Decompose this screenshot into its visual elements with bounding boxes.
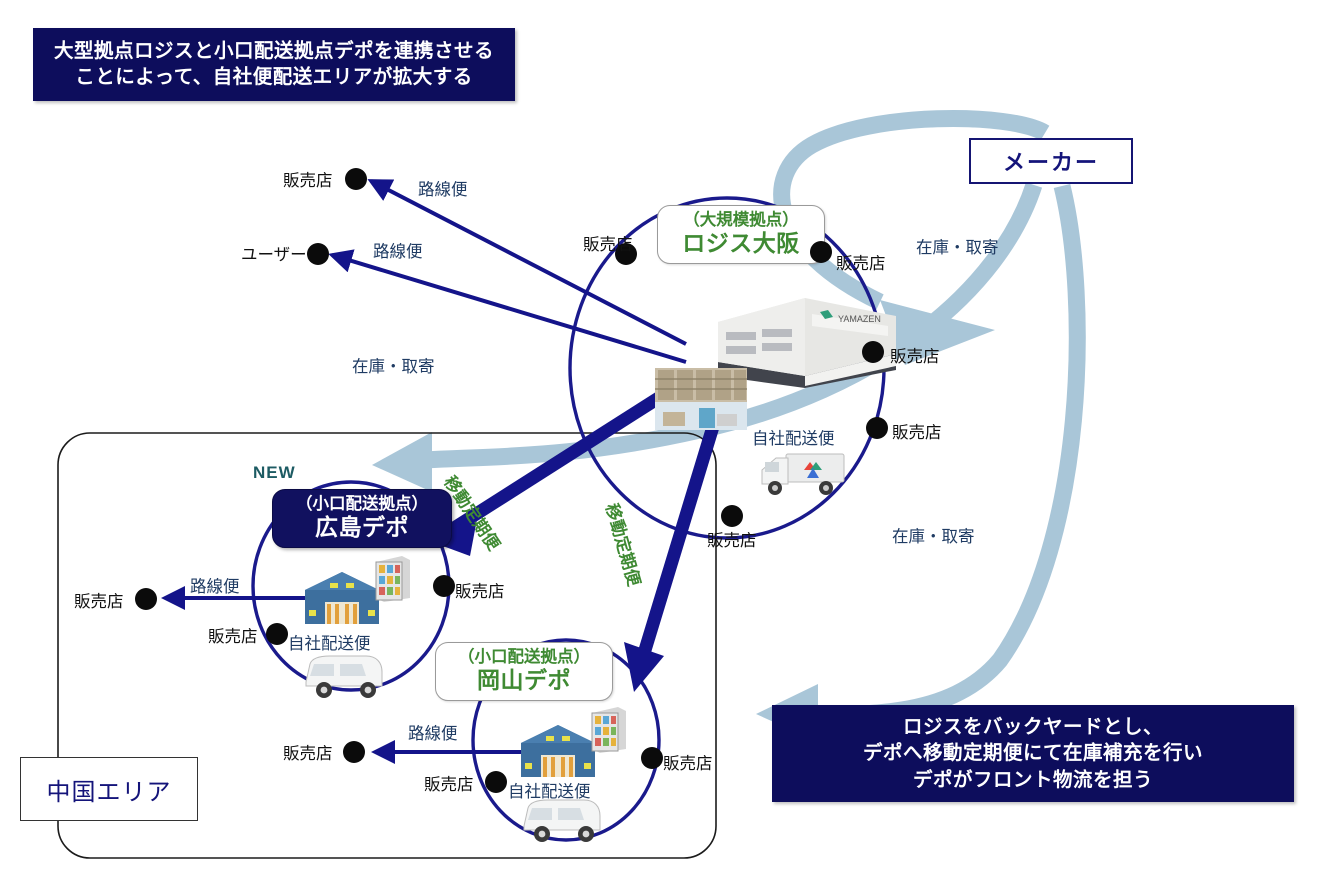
new-tag-label: NEW — [253, 463, 296, 483]
logis-osaka-subtitle: （大規模拠点） — [670, 211, 812, 230]
store-dot — [135, 588, 157, 610]
small-delivery-van-icon — [300, 652, 388, 700]
summary-line-2: デポへ移動定期便にて在庫補充を行い — [778, 740, 1288, 766]
title-line-1: 大型拠点ロジスと小口配送拠点デポを連携させる — [39, 38, 509, 64]
store-dot — [641, 747, 663, 769]
summary-line-3: デポがフロント物流を担う — [778, 767, 1288, 793]
node-hiroshima-depo: （小口配送拠点） 広島デポ — [272, 489, 452, 548]
store-label: 販売店 — [208, 623, 258, 647]
own-delivery-label: 自社配送便 — [508, 778, 591, 802]
own-delivery-label: 自社配送便 — [752, 425, 835, 449]
summary-banner: ロジスをバックヤードとし、 デポへ移動定期便にて在庫補充を行い デポがフロント物… — [772, 705, 1294, 802]
user-dot — [307, 243, 329, 265]
store-dot — [343, 741, 365, 763]
store-dot — [862, 341, 884, 363]
diagram-canvas: YAMAZEN — [0, 0, 1334, 872]
hiroshima-depo-title: 広島デポ — [285, 514, 439, 540]
store-dot — [866, 417, 888, 439]
maker-box: メーカー — [969, 138, 1133, 184]
store-dot — [266, 623, 288, 645]
stock-order-label: 在庫・取寄 — [892, 523, 975, 547]
china-area-box: 中国エリア — [20, 757, 198, 821]
node-logis-osaka: （大規模拠点） ロジス大阪 — [657, 205, 825, 264]
store-dot — [810, 241, 832, 263]
stock-order-label: 在庫・取寄 — [352, 353, 435, 377]
inventory-shelf-icon — [588, 707, 626, 753]
china-area-label: 中国エリア — [47, 772, 172, 807]
store-label: 販売店 — [74, 588, 124, 612]
warehouse-rack-photo-icon — [655, 368, 747, 430]
store-label: 販売店 — [707, 527, 757, 551]
logis-osaka-title: ロジス大阪 — [670, 230, 812, 256]
store-dot — [433, 575, 455, 597]
store-label: 販売店 — [424, 771, 474, 795]
okayama-depo-subtitle: （小口配送拠点） — [448, 648, 600, 667]
delivery-truck-icon — [758, 448, 850, 498]
store-label: 販売店 — [890, 343, 940, 367]
scheduled-transfer-label: 移動定期便 — [601, 500, 648, 589]
store-label: 販売店 — [283, 740, 333, 764]
own-delivery-label: 自社配送便 — [288, 630, 371, 654]
store-label: 販売店 — [836, 250, 886, 274]
okayama-depo-title: 岡山デポ — [448, 667, 600, 693]
route-service-label: 路線便 — [373, 238, 423, 262]
store-dot — [345, 168, 367, 190]
small-delivery-van-icon — [518, 796, 606, 844]
user-label: ユーザー — [241, 241, 307, 265]
svg-text:YAMAZEN: YAMAZEN — [838, 314, 881, 324]
title-line-2: ことによって、自社便配送エリアが拡大する — [39, 64, 509, 90]
store-label: 販売店 — [583, 231, 633, 255]
store-dot — [721, 505, 743, 527]
hiroshima-depo-subtitle: （小口配送拠点） — [285, 495, 439, 514]
summary-line-1: ロジスをバックヤードとし、 — [778, 714, 1288, 740]
store-label: 販売店 — [283, 167, 333, 191]
maker-label: メーカー — [1003, 145, 1099, 177]
depot-warehouse-icon — [303, 570, 381, 626]
inventory-shelf-icon — [372, 556, 410, 602]
title-banner: 大型拠点ロジスと小口配送拠点デポを連携させる ことによって、自社便配送エリアが拡… — [33, 28, 515, 101]
store-label: 販売店 — [663, 750, 713, 774]
store-label: 販売店 — [892, 419, 942, 443]
store-dot — [485, 771, 507, 793]
route-service-label: 路線便 — [418, 176, 468, 200]
route-service-label: 路線便 — [408, 720, 458, 744]
stock-order-label: 在庫・取寄 — [916, 234, 999, 258]
store-label: 販売店 — [455, 578, 505, 602]
route-service-label: 路線便 — [190, 573, 240, 597]
node-okayama-depo: （小口配送拠点） 岡山デポ — [435, 642, 613, 701]
depot-warehouse-icon — [519, 723, 597, 779]
